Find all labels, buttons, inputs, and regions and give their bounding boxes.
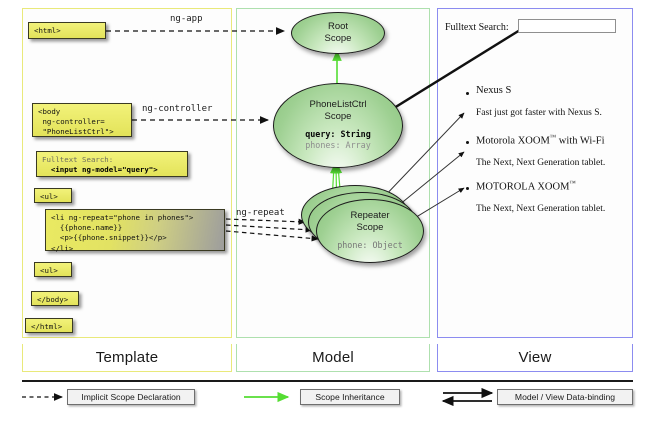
view-item-snippet-1: Fast just got faster with Nexus S. xyxy=(476,108,602,118)
scope-repeater: RepeaterScope phone: Object xyxy=(316,199,424,263)
code-fulltext-search: Fulltext Search: <input ng-model="query"… xyxy=(36,151,188,177)
view-bullet-1 xyxy=(466,92,469,95)
ng-app-label: ng-app xyxy=(170,14,203,24)
column-label-template: Template xyxy=(22,344,232,372)
scope-phonelistctrl: PhoneListCtrlScope query: String phones:… xyxy=(273,83,403,168)
scope-repeater-vars: phone: Object xyxy=(337,240,403,251)
view-item-snippet-2: The Next, Next Generation tablet. xyxy=(476,158,605,168)
view-bullet-3 xyxy=(466,187,469,190)
ng-repeat-label: ng-repeat xyxy=(236,208,285,218)
code-body-open: <body ng-controller= "PhoneListCtrl"> xyxy=(32,103,132,137)
legend-implicit-scope-declaration: Implicit Scope Declaration xyxy=(67,389,195,405)
scope-root: RootScope xyxy=(291,12,385,54)
view-column-panel xyxy=(437,8,633,338)
view-search-label: Fulltext Search: xyxy=(445,22,509,33)
view-item-snippet-3: The Next, Next Generation tablet. xyxy=(476,204,605,214)
scope-root-title: RootScope xyxy=(325,21,352,45)
var-query: query: String xyxy=(305,129,371,140)
legend-scope-inheritance: Scope Inheritance xyxy=(300,389,400,405)
code-body-close: </body> xyxy=(31,291,79,306)
column-label-view: View xyxy=(437,344,633,372)
scope-repeater-title: RepeaterScope xyxy=(350,210,389,234)
ng-controller-label: ng-controller xyxy=(142,104,212,114)
code-ul-close: <ul> xyxy=(34,262,72,277)
search-dim-line: Fulltext Search: xyxy=(42,155,113,164)
view-search-input[interactable] xyxy=(518,19,616,33)
diagram-canvas: ng-app ng-controller ng-repeat <html> <b… xyxy=(0,0,645,425)
search-bold-line: <input ng-model="query"> xyxy=(42,165,158,174)
legend-divider xyxy=(22,380,633,382)
view-item-name-1: Nexus S xyxy=(476,85,511,96)
view-item-name-3: MOTOROLA XOOM™ xyxy=(476,180,576,193)
column-label-model: Model xyxy=(236,344,430,372)
legend-model-view-data-binding: Model / View Data-binding xyxy=(497,389,633,405)
scope-phonelistctrl-vars: query: String phones: Array xyxy=(305,129,371,152)
var-phone: phone: Object xyxy=(337,240,403,251)
trademark-icon-3: ™ xyxy=(569,180,575,187)
scope-phonelistctrl-title: PhoneListCtrlScope xyxy=(309,99,366,123)
code-ul-open: <ul> xyxy=(34,188,72,203)
code-html-open: <html> xyxy=(28,22,106,39)
var-phones: phones: Array xyxy=(305,140,371,151)
code-li-ngrepeat: <li ng-repeat="phone in phones"> {{phone… xyxy=(45,209,225,251)
view-item-name-2: Motorola XOOM™ with Wi-Fi xyxy=(476,134,605,147)
code-html-close: </html> xyxy=(25,318,73,333)
model-column-panel xyxy=(236,8,430,338)
view-bullet-2 xyxy=(466,141,469,144)
